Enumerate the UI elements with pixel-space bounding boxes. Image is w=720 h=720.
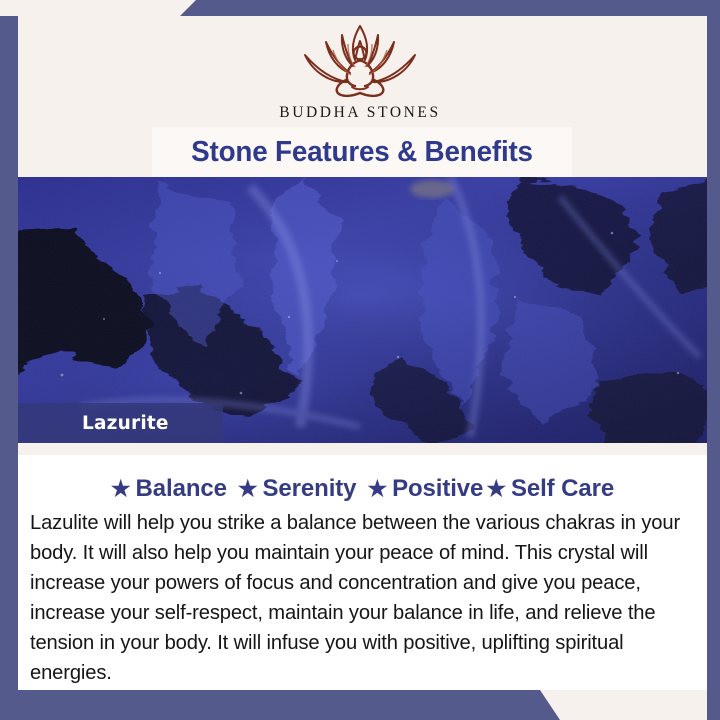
keyword-balance: ★Balance xyxy=(111,475,227,503)
content-top-strip xyxy=(18,443,707,455)
stone-name-banner: Lazurite xyxy=(18,403,223,443)
stone-name-label: Lazurite xyxy=(82,413,169,434)
star-icon: ★ xyxy=(367,476,387,501)
keyword-label: Self Care xyxy=(511,475,614,502)
frame-left-accent xyxy=(0,16,18,720)
frame-top-accent xyxy=(0,0,720,16)
keyword-label: Balance xyxy=(136,475,227,502)
page-title: Stone Features & Benefits xyxy=(191,136,533,169)
lotus-meditation-figure-icon xyxy=(285,22,435,100)
star-icon: ★ xyxy=(238,476,258,501)
frame-right-accent xyxy=(707,0,720,720)
brand-name: BUDDHA STONES xyxy=(0,104,720,122)
page-title-plate: Stone Features & Benefits xyxy=(152,127,572,177)
keyword-list: ★Balance★Serenity★Positive★Self Care xyxy=(18,475,707,503)
keyword-label: Positive xyxy=(392,475,483,502)
keyword-serenity: ★Serenity xyxy=(238,475,357,503)
keyword-self-care: ★Self Care xyxy=(486,475,614,503)
brand-logo: BUDDHA STONES xyxy=(0,22,720,122)
star-icon: ★ xyxy=(111,476,131,501)
content-panel: ★Balance★Serenity★Positive★Self Care Laz… xyxy=(18,455,707,690)
stone-description: Lazulite will help you strike a balance … xyxy=(30,508,688,688)
stone-info-card: Lazurite xyxy=(0,0,720,720)
star-icon: ★ xyxy=(486,476,506,501)
keyword-label: Serenity xyxy=(263,475,357,502)
keyword-positive: ★Positive xyxy=(367,475,483,503)
